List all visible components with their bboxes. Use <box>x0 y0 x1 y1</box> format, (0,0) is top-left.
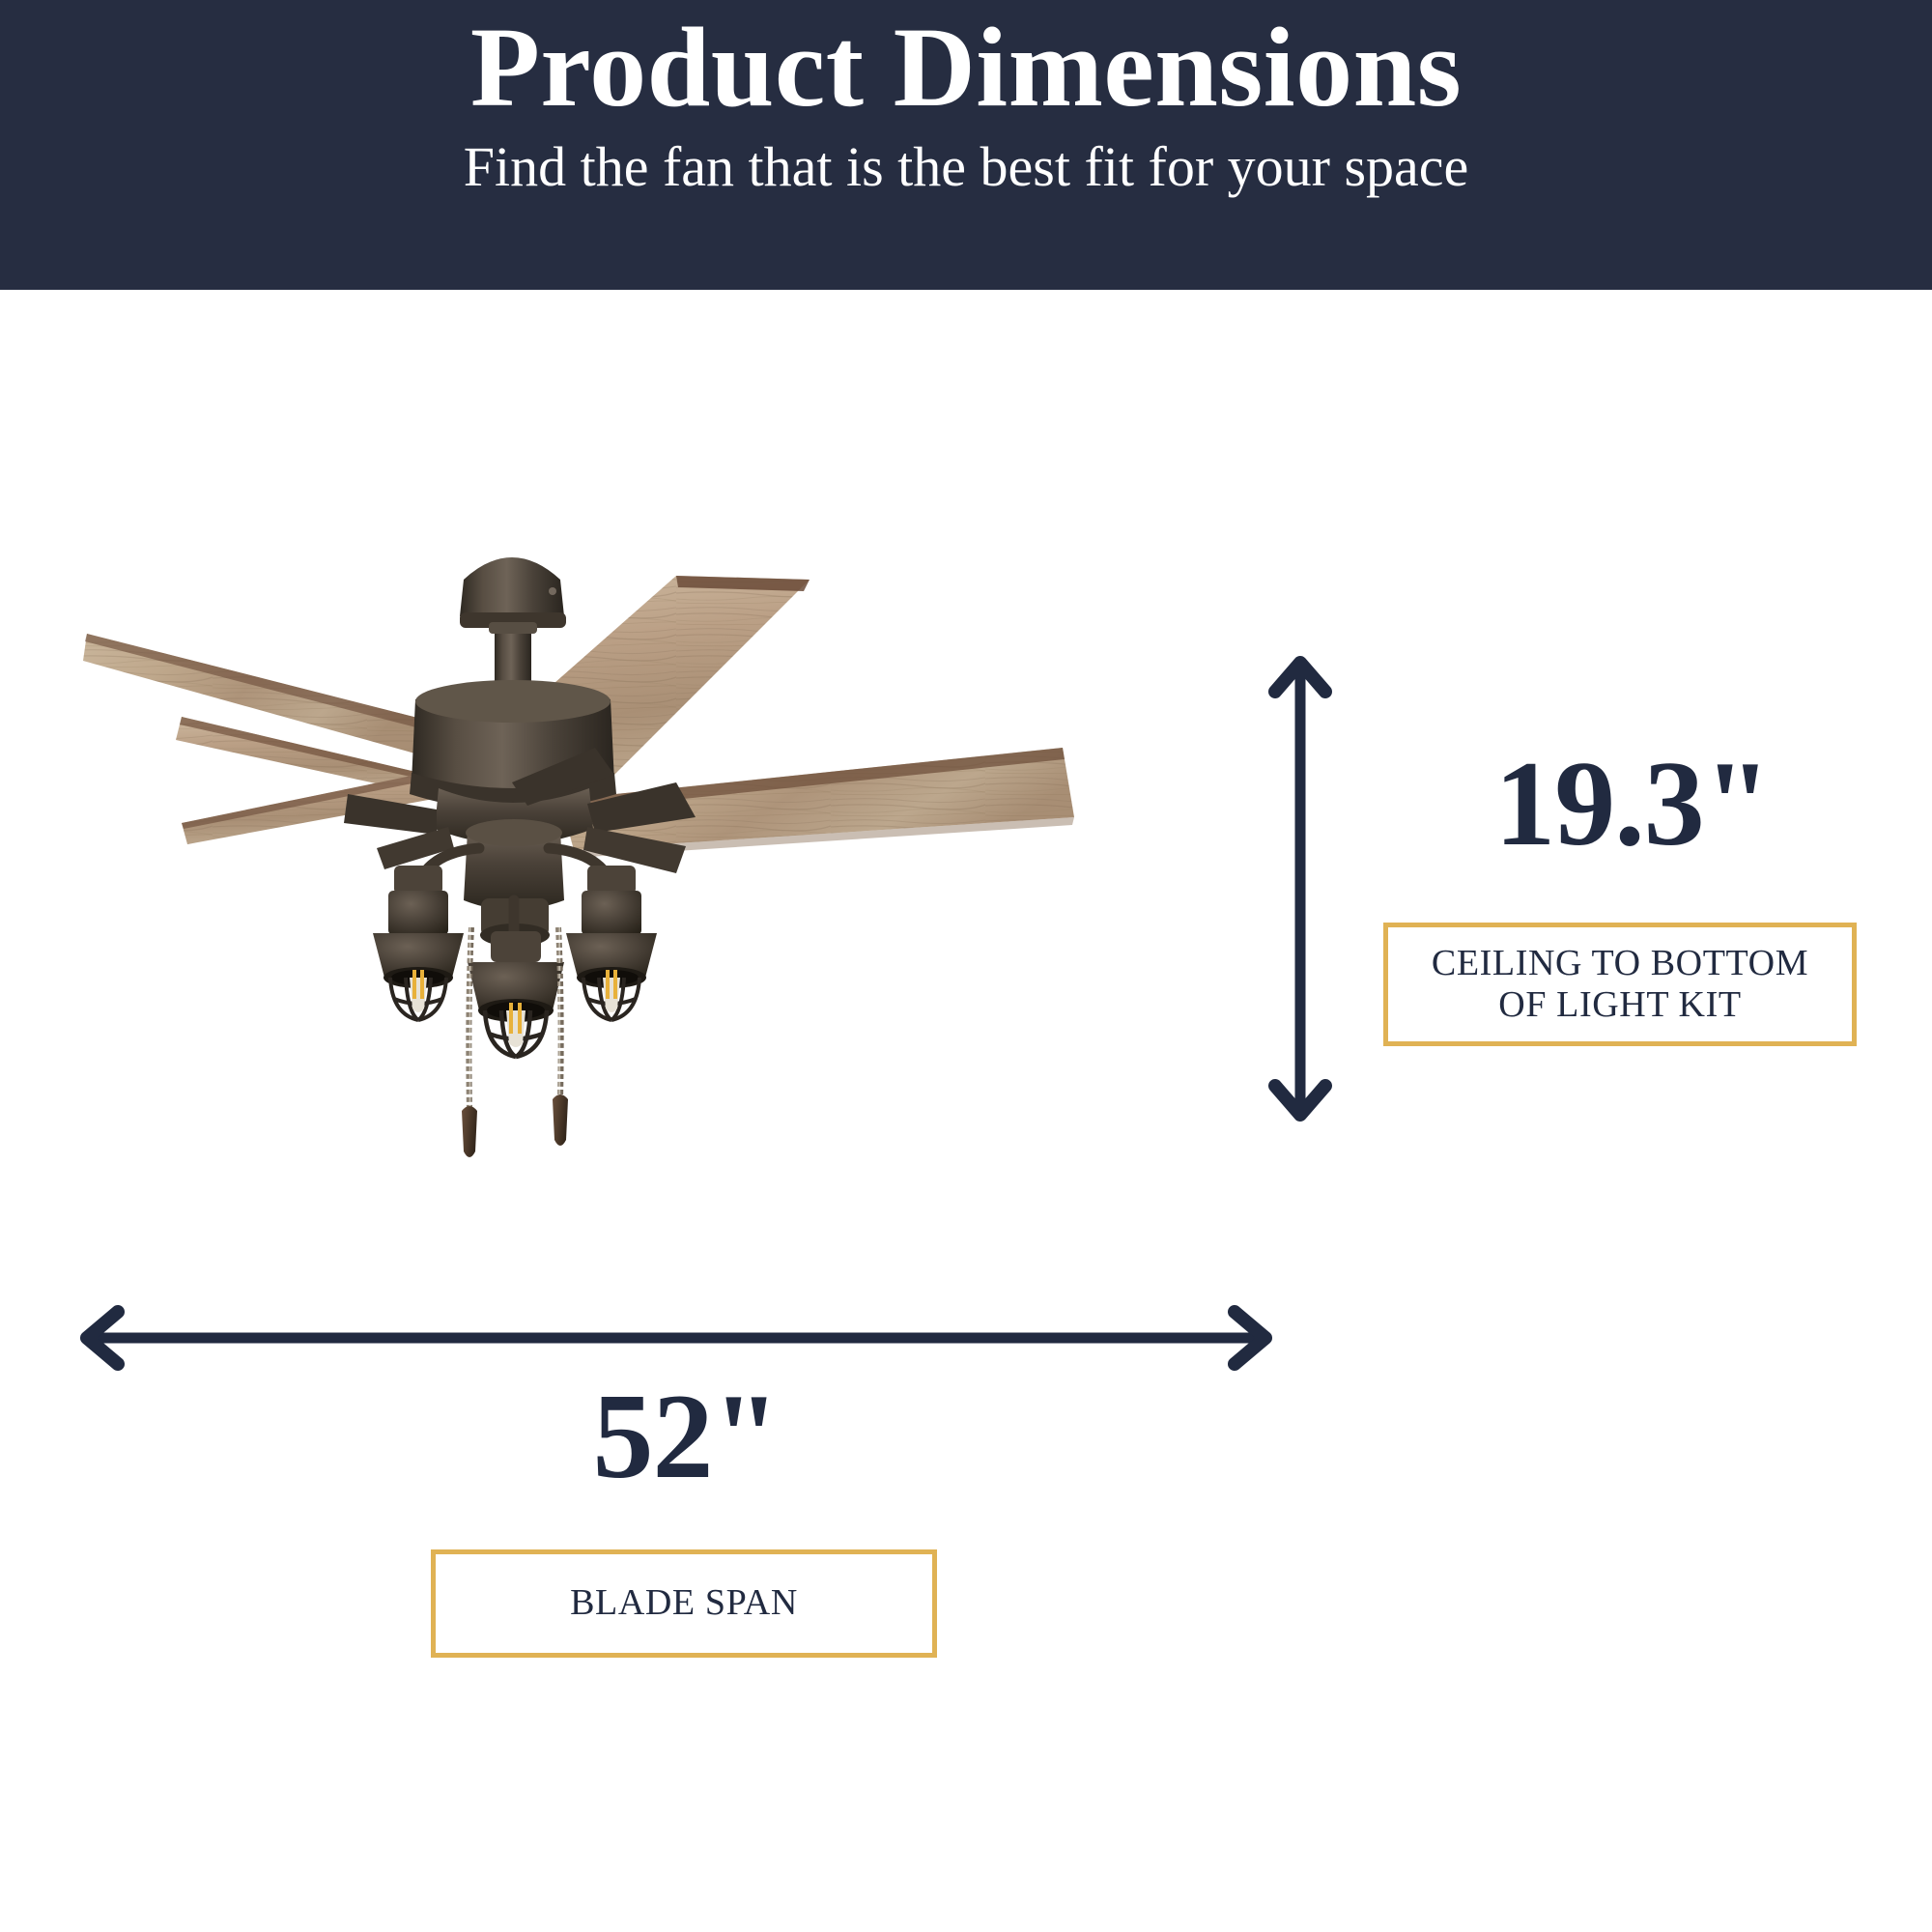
fan-canopy <box>460 557 566 628</box>
ceiling-fan-product-image <box>58 541 1256 1304</box>
fan-light-shade-right <box>566 866 657 1020</box>
vertical-double-arrow-icon <box>1246 638 1362 1140</box>
fan-light-shade-left <box>373 866 464 1020</box>
fan-light-shade-center <box>468 931 564 1057</box>
height-dimension-arrow <box>1246 638 1362 1140</box>
page-title: Product Dimensions <box>470 6 1462 128</box>
width-caption-text: BLADE SPAN <box>570 1582 798 1624</box>
product-dimensions-infographic: Product Dimensions Find the fan that is … <box>0 0 1932 1932</box>
height-caption-box: CEILING TO BOTTOM OF LIGHT KIT <box>1383 923 1857 1046</box>
height-value-label: 19.3" <box>1410 744 1855 866</box>
height-caption-text: CEILING TO BOTTOM OF LIGHT KIT <box>1432 943 1808 1027</box>
page-subtitle: Find the fan that is the best fit for yo… <box>464 136 1469 198</box>
fan-pull-chain-right <box>553 927 568 1146</box>
ceiling-fan-illustration <box>58 541 1256 1304</box>
height-caption-line-2: OF LIGHT KIT <box>1498 984 1741 1025</box>
width-caption-box: BLADE SPAN <box>431 1549 937 1658</box>
height-caption-line-1: CEILING TO BOTTOM <box>1432 943 1808 983</box>
width-value-label: 52" <box>415 1377 956 1498</box>
header-banner: Product Dimensions Find the fan that is … <box>0 0 1932 290</box>
fan-pull-chain-left <box>462 927 477 1157</box>
